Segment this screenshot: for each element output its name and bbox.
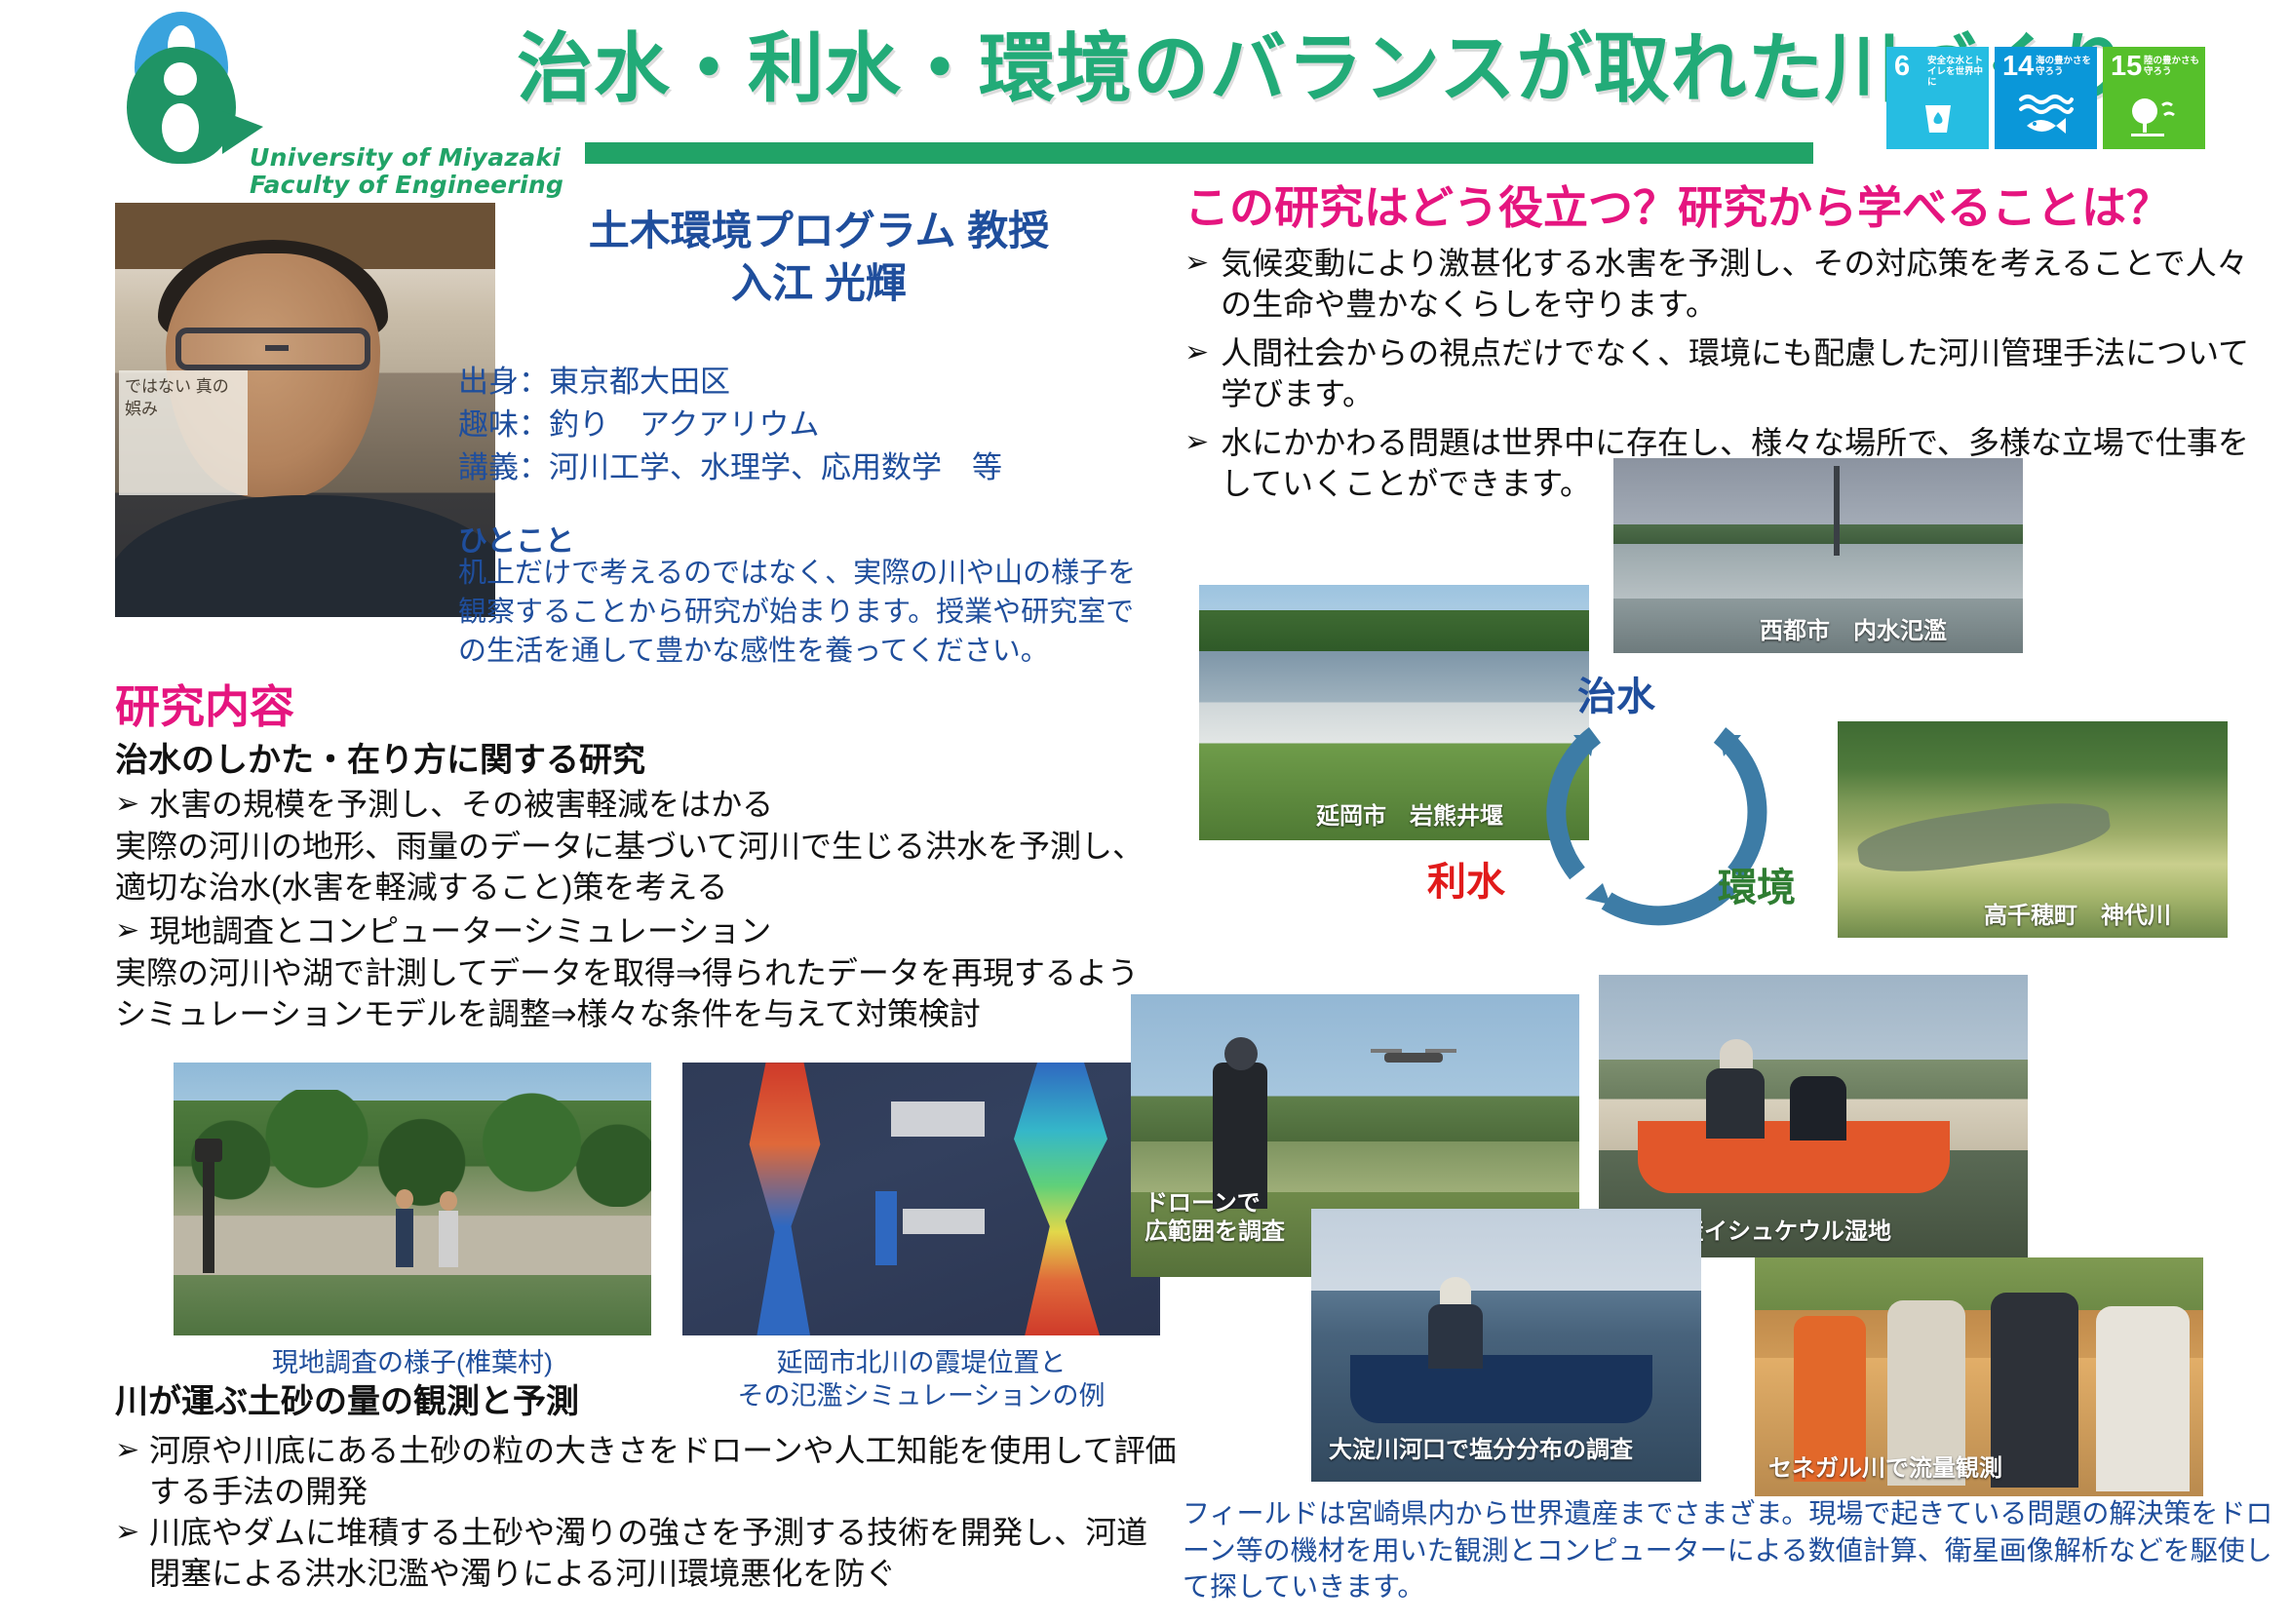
professor-program-title: 土木環境プログラム 教授 <box>507 205 1131 257</box>
benefits-section-heading: この研究はどう役立つ？研究から学べることは？ <box>1184 183 2171 233</box>
field-description-note: フィールドは宮崎県内から世界遺産までさまざま。現場で起きている問題の解決策をドロ… <box>1183 1495 2274 1605</box>
sdg-14-number: 14 <box>2002 53 2034 81</box>
oyodo-estuary-salinity-photo: 大淀川河口で塩分分布の調査 <box>1311 1209 1701 1482</box>
cycle-label-kankyo: 環境 <box>1718 856 1796 912</box>
sediment-bullet-1: ➢ 河原や川底にある土砂の粒の大きさをドローンや人工知能を使用して評価する手法の… <box>115 1431 1178 1512</box>
kasumi-levee-simulation-photo <box>682 1063 1160 1335</box>
research-bullet-2-text: 現地調査とコンピューターシミュレーション <box>149 911 771 952</box>
professor-origin: 出身：東京都大田区 <box>458 361 1141 404</box>
research-section-heading: 研究内容 <box>115 682 294 732</box>
benefits-bullet-2: ➢ 人間社会からの視点だけでなく、環境にも配慮した河川管理手法について学びます。 <box>1184 333 2267 414</box>
bullet-arrow-icon: ➢ <box>115 1431 139 1470</box>
sim-legend-box <box>891 1102 985 1137</box>
header-green-bar <box>585 142 1813 164</box>
caption-senegal-discharge: セネガル川で流量観測 <box>1768 1455 2002 1483</box>
caption-oyodo-salinity: 大淀川河口で塩分分布の調査 <box>1329 1437 1633 1464</box>
caption-drone-survey: ドローンで 広範囲を調査 <box>1145 1190 1285 1246</box>
caption-field-survey-shiiba: 現地調査の様子(椎葉村) <box>174 1347 651 1380</box>
university-name: University of Miyazaki Faculty of Engine… <box>250 144 581 199</box>
cycle-label-chisui: 治水 <box>1577 665 1655 721</box>
sdg-6-number: 6 <box>1894 53 1910 81</box>
sdg-14-badge: 14 海の豊かさを守ろう <box>1995 47 2097 149</box>
research-bullet-1-text: 水害の規模を予測し、その被害軽減をはかる <box>149 785 773 826</box>
photo-person-1 <box>396 1209 413 1267</box>
research-section-subheading: 治水のしかた・在り方に関する研究 <box>115 741 645 781</box>
water-glass-icon <box>1886 94 1989 145</box>
benefits-bullet-1-text: 気候変動により激甚化する水害を予測し、その対応策を考えることで人々の生命や豊かな… <box>1221 244 2267 325</box>
portrait-body <box>115 495 495 617</box>
bullet-arrow-icon: ➢ <box>1184 333 1209 414</box>
drone-icon <box>1384 1053 1443 1063</box>
university-name-line2: Faculty of Engineering <box>250 172 581 199</box>
sdg-15-label: 陸の豊かさも守ろう <box>2144 56 2202 77</box>
professor-name: 入江 光輝 <box>507 257 1131 310</box>
sim-river-left <box>721 1063 848 1335</box>
benefits-bullet-1: ➢ 気候変動により激甚化する水害を予測し、その対応策を考えることで人々の生命や豊… <box>1184 244 2267 325</box>
photo-survey-boat <box>1350 1355 1652 1423</box>
sim-river-right <box>975 1063 1131 1335</box>
sediment-bullet-1-text: 河原や川底にある土砂の粒の大きさをドローンや人工知能を使用して評価する手法の開発 <box>149 1431 1178 1512</box>
research-bullet-2: ➢ 現地調査とコンピューターシミュレーション <box>115 911 1148 952</box>
photo-survey-pole <box>203 1156 214 1273</box>
sim-scale-bar <box>875 1191 897 1265</box>
saito-inland-flood-photo: 西都市 内水氾濫 <box>1613 458 2023 653</box>
poster-header: University of Miyazaki Faculty of Engine… <box>0 0 2290 180</box>
hitokoto-body: 机上だけで考えるのではなく、実際の川や山の様子を観察することから研究が始まります… <box>458 554 1160 671</box>
photo-operator-head <box>1224 1037 1258 1070</box>
photo-operator <box>1213 1063 1267 1209</box>
senegal-river-discharge-photo: セネガル川で流量観測 <box>1755 1257 2203 1496</box>
bullet-arrow-icon: ➢ <box>115 1513 139 1552</box>
research-paragraph-2: 実際の河川や湖で計測してデータを取得⇒得られたデータを再現するようシミュレーショ… <box>115 953 1168 1034</box>
sim-label-box <box>903 1209 985 1234</box>
sdg-14-label: 海の豊かさを守ろう <box>2036 56 2094 77</box>
tree-birds-icon <box>2103 94 2205 145</box>
caption-iwakuma-weir: 延岡市 岩熊井堰 <box>1316 803 1503 831</box>
sdg-6-label: 安全な水とトイレを世界中に <box>1927 56 1986 89</box>
sediment-bullet-2: ➢ 川底やダムに堆積する土砂や濁りの強さを予測する技術を開発し、河道閉塞による洪… <box>115 1513 1178 1594</box>
sediment-bullet-2-text: 川底やダムに堆積する土砂や濁りの強さを予測する技術を開発し、河道閉塞による洪水氾… <box>149 1513 1178 1594</box>
water-balance-cycle-diagram: 治水 利水 環境 <box>1501 682 1813 936</box>
bullet-arrow-icon: ➢ <box>115 911 139 950</box>
sdg-15-badge: 15 陸の豊かさも守ろう <box>2103 47 2205 149</box>
sdg-icon-group: 6 安全な水とトイレを世界中に 14 海の豊かさを守ろう <box>1886 47 2205 149</box>
research-paragraph-1: 実際の河川の地形、雨量のデータに基づいて河川で生じる洪水を予測し、適切な治水(水… <box>115 827 1168 908</box>
fish-waves-icon <box>1995 94 2097 145</box>
professor-title-block: 土木環境プログラム 教授 入江 光輝 <box>507 205 1131 310</box>
photo-researcher-1 <box>1706 1068 1765 1139</box>
sdg-15-number: 15 <box>2111 53 2142 81</box>
caption-sim-line1: 延岡市北川の霞堤位置と <box>663 1347 1180 1380</box>
university-name-line1: University of Miyazaki <box>250 144 581 172</box>
photo-utility-pole <box>1834 466 1840 556</box>
caption-drone-line1: ドローンで <box>1145 1190 1285 1218</box>
bullet-arrow-icon: ➢ <box>115 785 139 824</box>
photo-researcher-2 <box>1790 1076 1846 1141</box>
photo-person-d <box>2096 1306 2190 1491</box>
portrait-background-sign: ではない 真の娯み <box>119 370 248 495</box>
takachiho-kamiyo-river-photo: 高千穂町 神代川 <box>1838 721 2228 938</box>
caption-kasumi-levee-simulation: 延岡市北川の霞堤位置と その氾濫シミュレーションの例 <box>663 1347 1180 1413</box>
caption-sim-line2: その氾濫シミュレーションの例 <box>663 1380 1180 1413</box>
photo-person-2 <box>439 1211 458 1267</box>
bullet-arrow-icon: ➢ <box>1184 244 1209 325</box>
benefits-bullet-2-text: 人間社会からの視点だけでなく、環境にも配慮した河川管理手法について学びます。 <box>1221 333 2267 414</box>
photo-surveyor <box>1428 1304 1483 1369</box>
portrait-glasses <box>175 328 370 370</box>
university-of-miyazaki-logo <box>107 8 253 139</box>
caption-kamiyo-river: 高千穂町 神代川 <box>1984 903 2171 930</box>
professor-hobby: 趣味：釣り アクアリウム <box>458 404 1141 446</box>
photo-trees <box>174 1090 651 1207</box>
caption-drone-line2: 広範囲を調査 <box>1145 1218 1285 1246</box>
research-bullet-1: ➢ 水害の規模を予測し、その被害軽減をはかる <box>115 785 1148 826</box>
sdg-6-badge: 6 安全な水とトイレを世界中に <box>1886 47 1989 149</box>
caption-saito-inland-flood: 西都市 内水氾濫 <box>1760 618 1947 645</box>
page-title: 治水・利水・環境のバランスが取れた川づくり <box>517 29 1804 109</box>
professor-lectures: 講義：河川工学、水理学、応用数学 等 <box>458 446 1141 489</box>
field-survey-shiiba-photo <box>174 1063 651 1335</box>
professor-meta: 出身：東京都大田区 趣味：釣り アクアリウム 講義：河川工学、水理学、応用数学 … <box>458 361 1141 489</box>
cycle-label-risui: 利水 <box>1427 850 1505 907</box>
logo-green-shape <box>127 47 236 164</box>
sediment-section-heading: 川が運ぶ土砂の量の観測と予測 <box>115 1382 579 1422</box>
photo-person-c <box>1991 1293 2078 1488</box>
bullet-arrow-icon: ➢ <box>1184 423 1209 504</box>
professor-portrait: ではない 真の娯み <box>115 203 495 617</box>
photo-river-water <box>1855 793 2114 881</box>
